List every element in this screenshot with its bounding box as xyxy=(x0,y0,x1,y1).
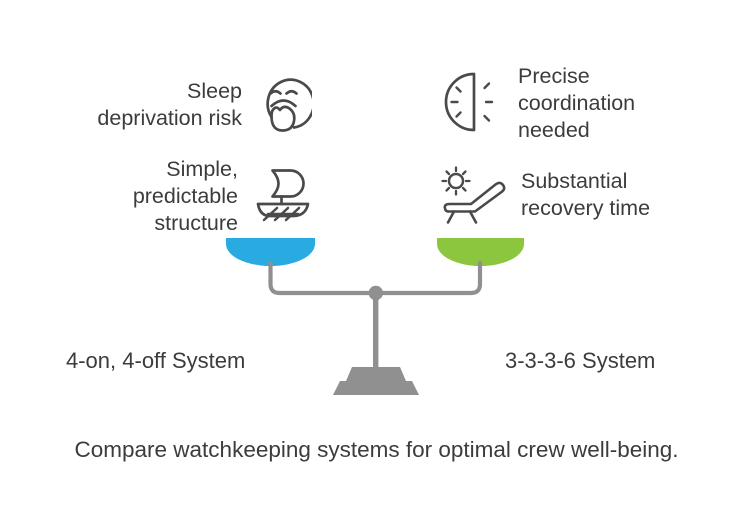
yawning-face-icon xyxy=(256,75,312,135)
left-system-name: 4-on, 4-off System xyxy=(66,348,245,374)
feature-right-substantial-recovery: Substantial recovery time xyxy=(437,160,737,230)
left-pan xyxy=(226,238,315,266)
feature-left-simple-structure: Simple, predictable structure xyxy=(20,155,316,237)
scale-pivot xyxy=(369,286,383,300)
feature-right-precise-coordination: Precise coordination needed xyxy=(441,58,741,148)
feature-label: Precise coordination needed xyxy=(518,63,635,144)
feature-label: Sleep deprivation risk xyxy=(97,78,242,132)
scale-base-upper xyxy=(346,367,406,381)
feature-label: Simple, predictable structure xyxy=(133,156,238,237)
half-clock-icon xyxy=(441,68,503,138)
scale-beam xyxy=(271,263,481,293)
feature-label: Substantial recovery time xyxy=(521,168,650,222)
right-system-name: 3-3-3-6 System xyxy=(505,348,655,374)
balance-comparison-diagram: Sleep deprivation risk Simple, predictab… xyxy=(0,0,753,528)
diagram-caption: Compare watchkeeping systems for optimal… xyxy=(0,437,753,463)
scale-base-lower xyxy=(333,381,419,395)
sailing-ship-icon xyxy=(250,164,316,228)
feature-left-sleep-deprivation: Sleep deprivation risk xyxy=(20,70,312,140)
scale-stem xyxy=(373,293,378,372)
right-pan xyxy=(437,238,524,266)
sun-lounger-icon xyxy=(437,164,509,226)
